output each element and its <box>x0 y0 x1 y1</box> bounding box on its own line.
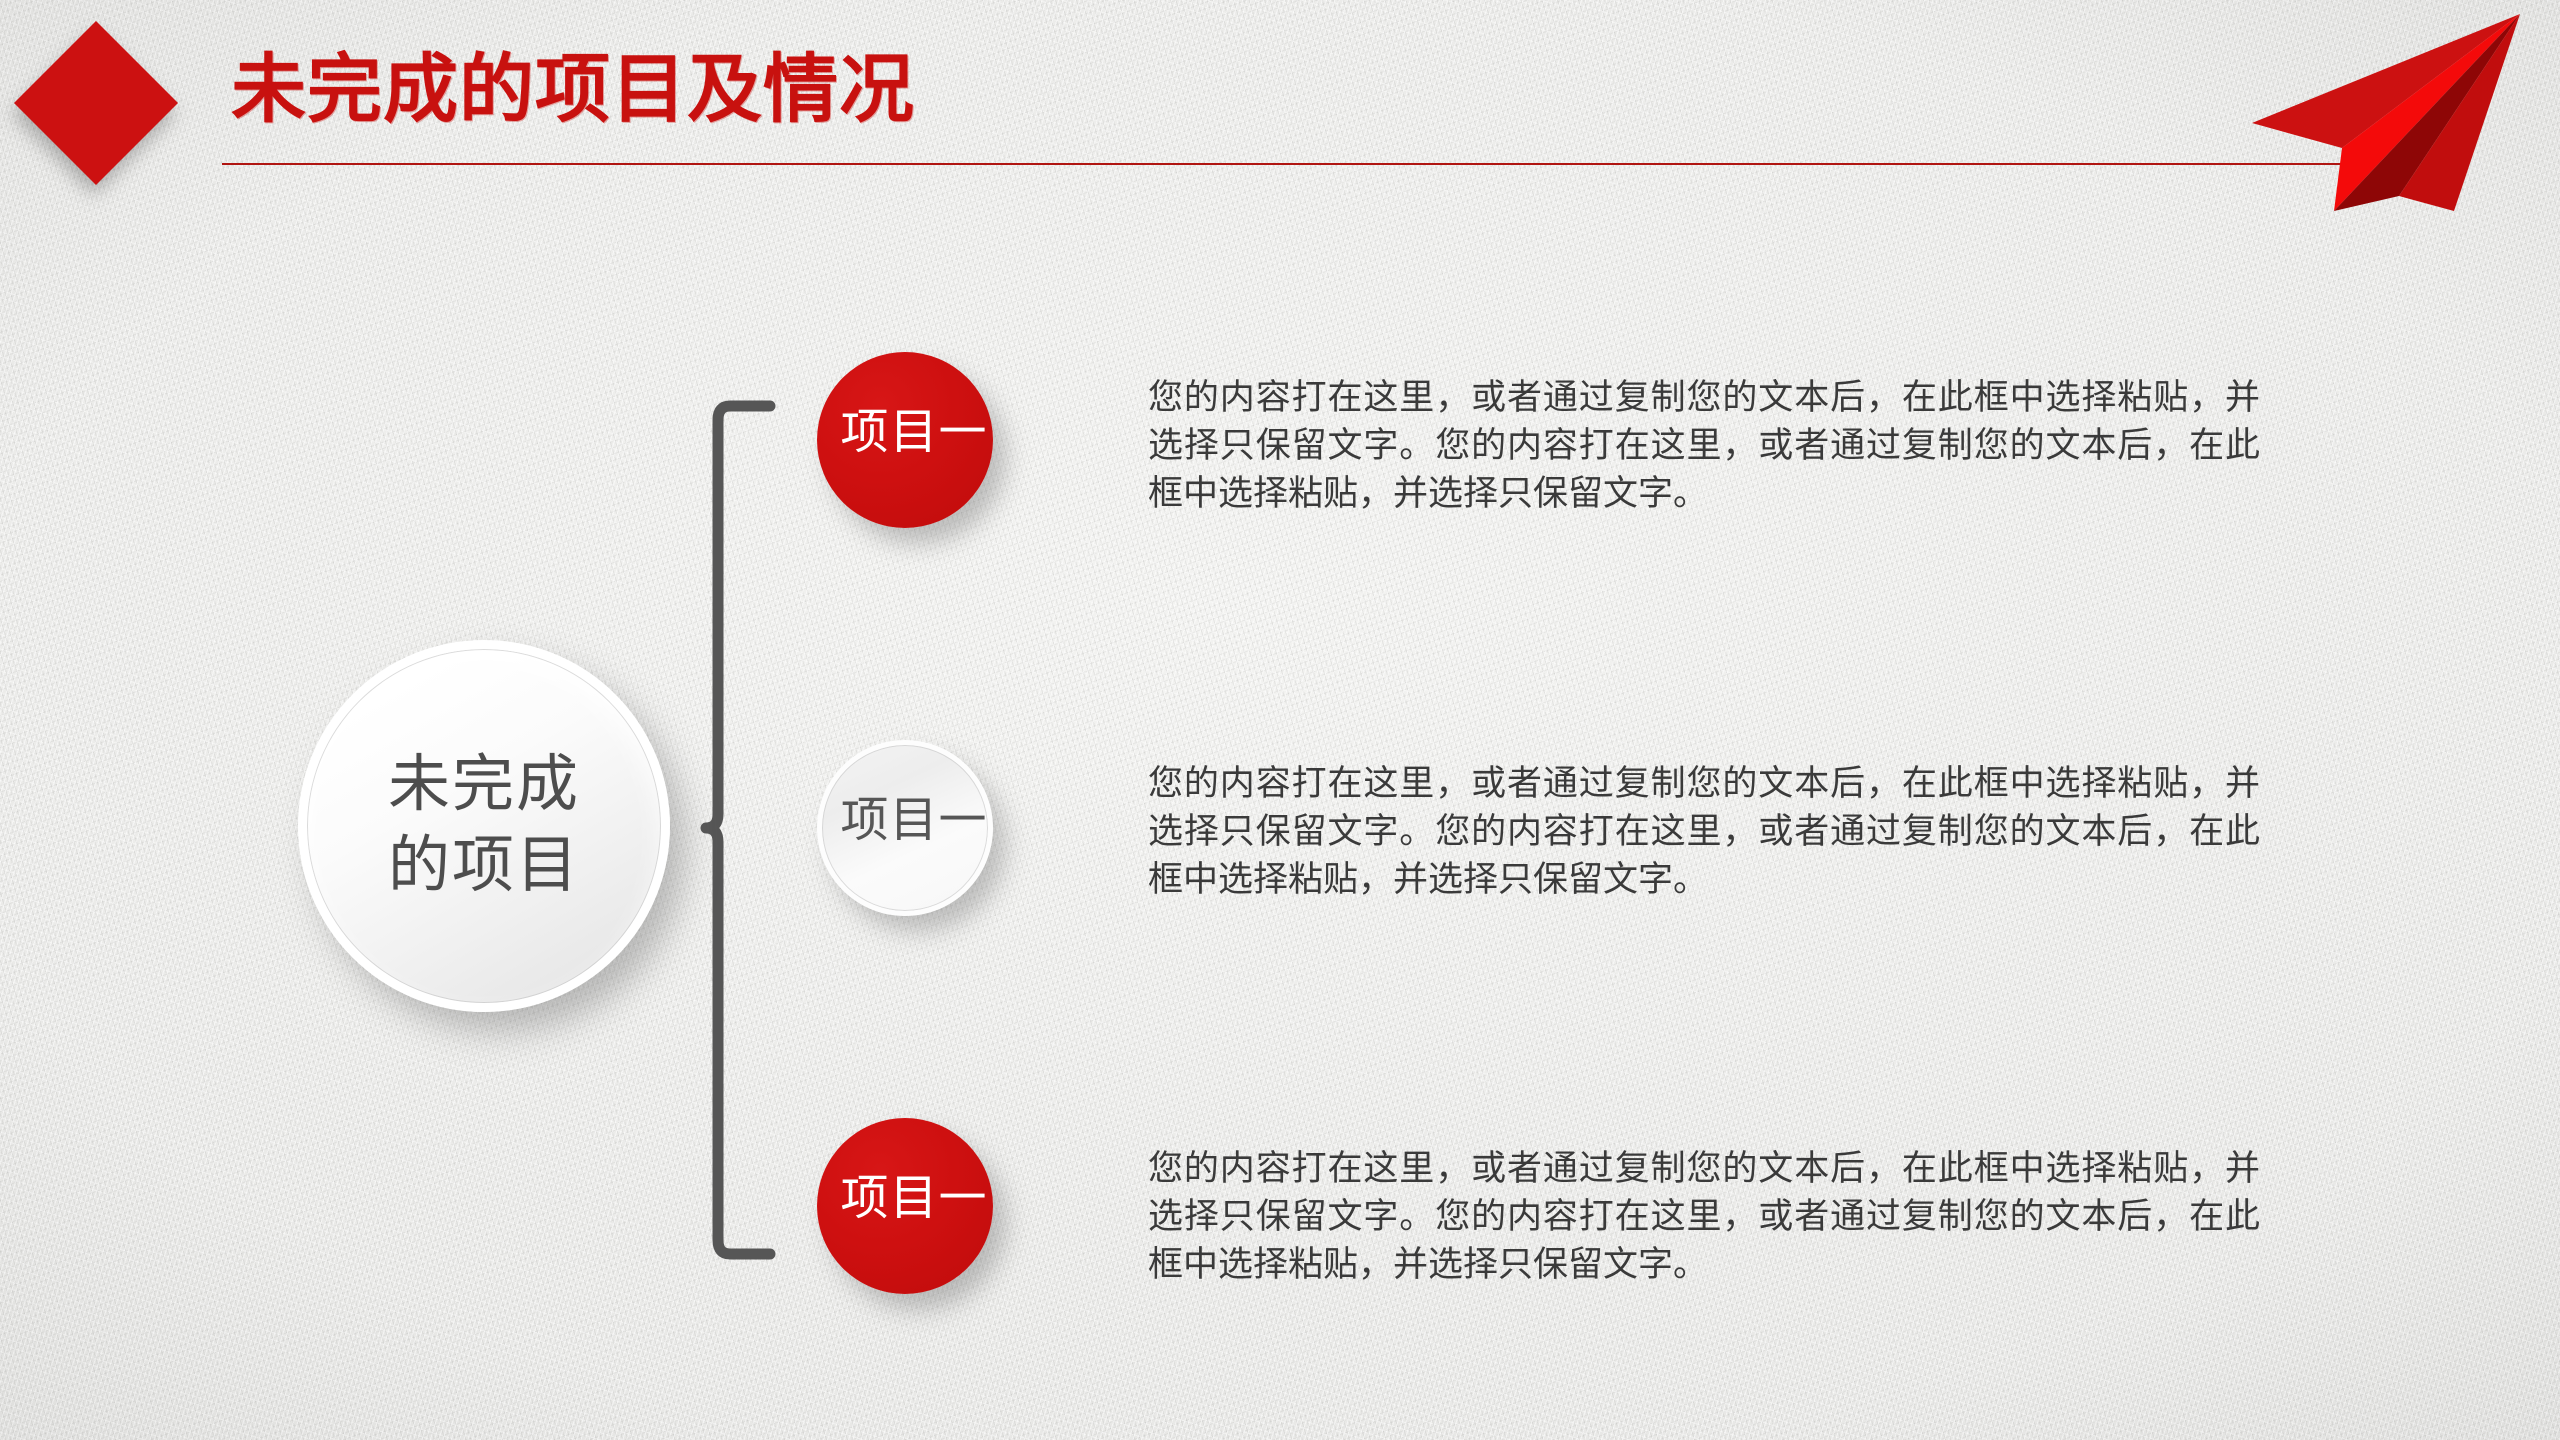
hub-label-line-1: 未完成 <box>388 745 580 826</box>
red-diamond-icon <box>14 21 178 185</box>
item-circle-2[interactable]: 项目一 <box>817 740 993 916</box>
paper-plane-icon <box>2154 0 2554 211</box>
item-label-2: 项目一 <box>840 797 987 845</box>
slide-canvas: 未完成的项目及情况 未完成 的项目 项目一 您的内容打在这里，或者通过复制您的文… <box>0 0 2560 1440</box>
hub-circle[interactable]: 未完成 的项目 <box>298 640 670 1012</box>
item-label-3: 项目一 <box>840 1175 987 1223</box>
item-body-1: 您的内容打在这里，或者通过复制您的文本后，在此框中选择粘贴，并选择只保留文字。您… <box>1148 374 2260 518</box>
brace-connector <box>668 400 788 1260</box>
title-underline-rule <box>222 163 2347 165</box>
item-body-2: 您的内容打在这里，或者通过复制您的文本后，在此框中选择粘贴，并选择只保留文字。您… <box>1148 760 2260 904</box>
item-body-3: 您的内容打在这里，或者通过复制您的文本后，在此框中选择粘贴，并选择只保留文字。您… <box>1148 1145 2260 1289</box>
item-label-1: 项目一 <box>840 409 987 457</box>
item-circle-1[interactable]: 项目一 <box>817 352 993 528</box>
page-title: 未完成的项目及情况 <box>231 44 915 136</box>
item-circle-3[interactable]: 项目一 <box>817 1118 993 1294</box>
hub-label-line-2: 的项目 <box>388 826 580 907</box>
